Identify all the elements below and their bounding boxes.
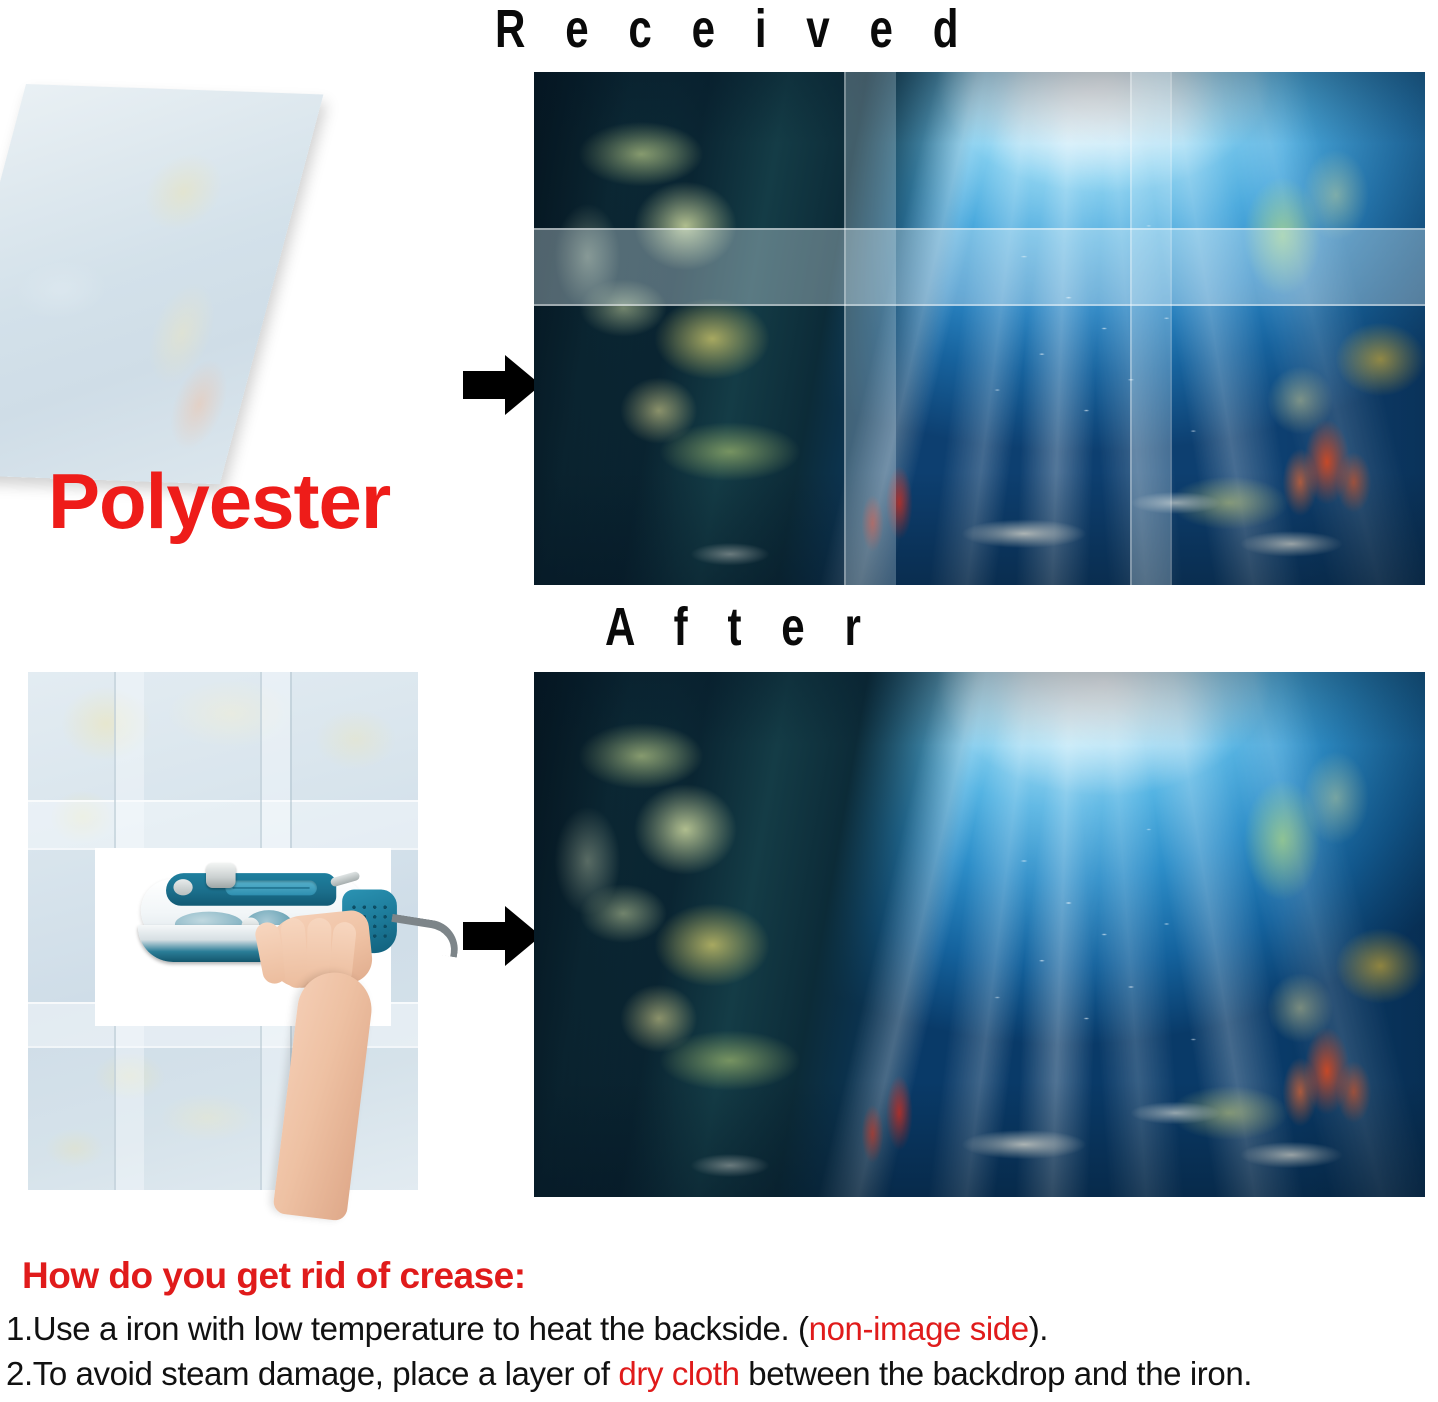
after-heading: A f t e r: [605, 600, 875, 654]
reef-backdrop-after: [534, 672, 1425, 1197]
instruction-step-1: 1.Use a iron with low temperature to hea…: [6, 1310, 1048, 1348]
step-1-text-a: Use a iron with low temperature to heat …: [33, 1310, 809, 1347]
step-1-text-b: ).: [1029, 1310, 1048, 1347]
forearm: [272, 968, 375, 1221]
received-heading: R e c e i v e d: [495, 2, 972, 56]
step-1-highlight: non-image side: [809, 1310, 1029, 1347]
instruction-step-2: 2.To avoid steam damage, place a layer o…: [6, 1355, 1252, 1393]
hand-icon: [95, 848, 455, 1268]
vignette: [534, 672, 1425, 1197]
reef-backdrop-received: [534, 72, 1425, 585]
polyester-swatch: [0, 84, 323, 484]
right-arrow-icon: [463, 906, 545, 966]
right-arrow-icon: [463, 355, 545, 415]
vignette: [534, 72, 1425, 585]
arrow-shaft: [463, 371, 509, 399]
instructions-title: How do you get rid of crease:: [22, 1255, 526, 1297]
step-1-number: 1.: [6, 1310, 33, 1347]
arrow-shaft: [463, 922, 509, 950]
step-2-text-b: between the backdrop and the iron.: [740, 1355, 1253, 1392]
step-2-highlight: dry cloth: [618, 1355, 739, 1392]
step-2-number: 2.: [6, 1355, 33, 1392]
swatch-print-tint: [0, 84, 323, 484]
step-2-text-a: To avoid steam damage, place a layer of: [33, 1355, 619, 1392]
material-label: Polyester: [48, 462, 390, 540]
